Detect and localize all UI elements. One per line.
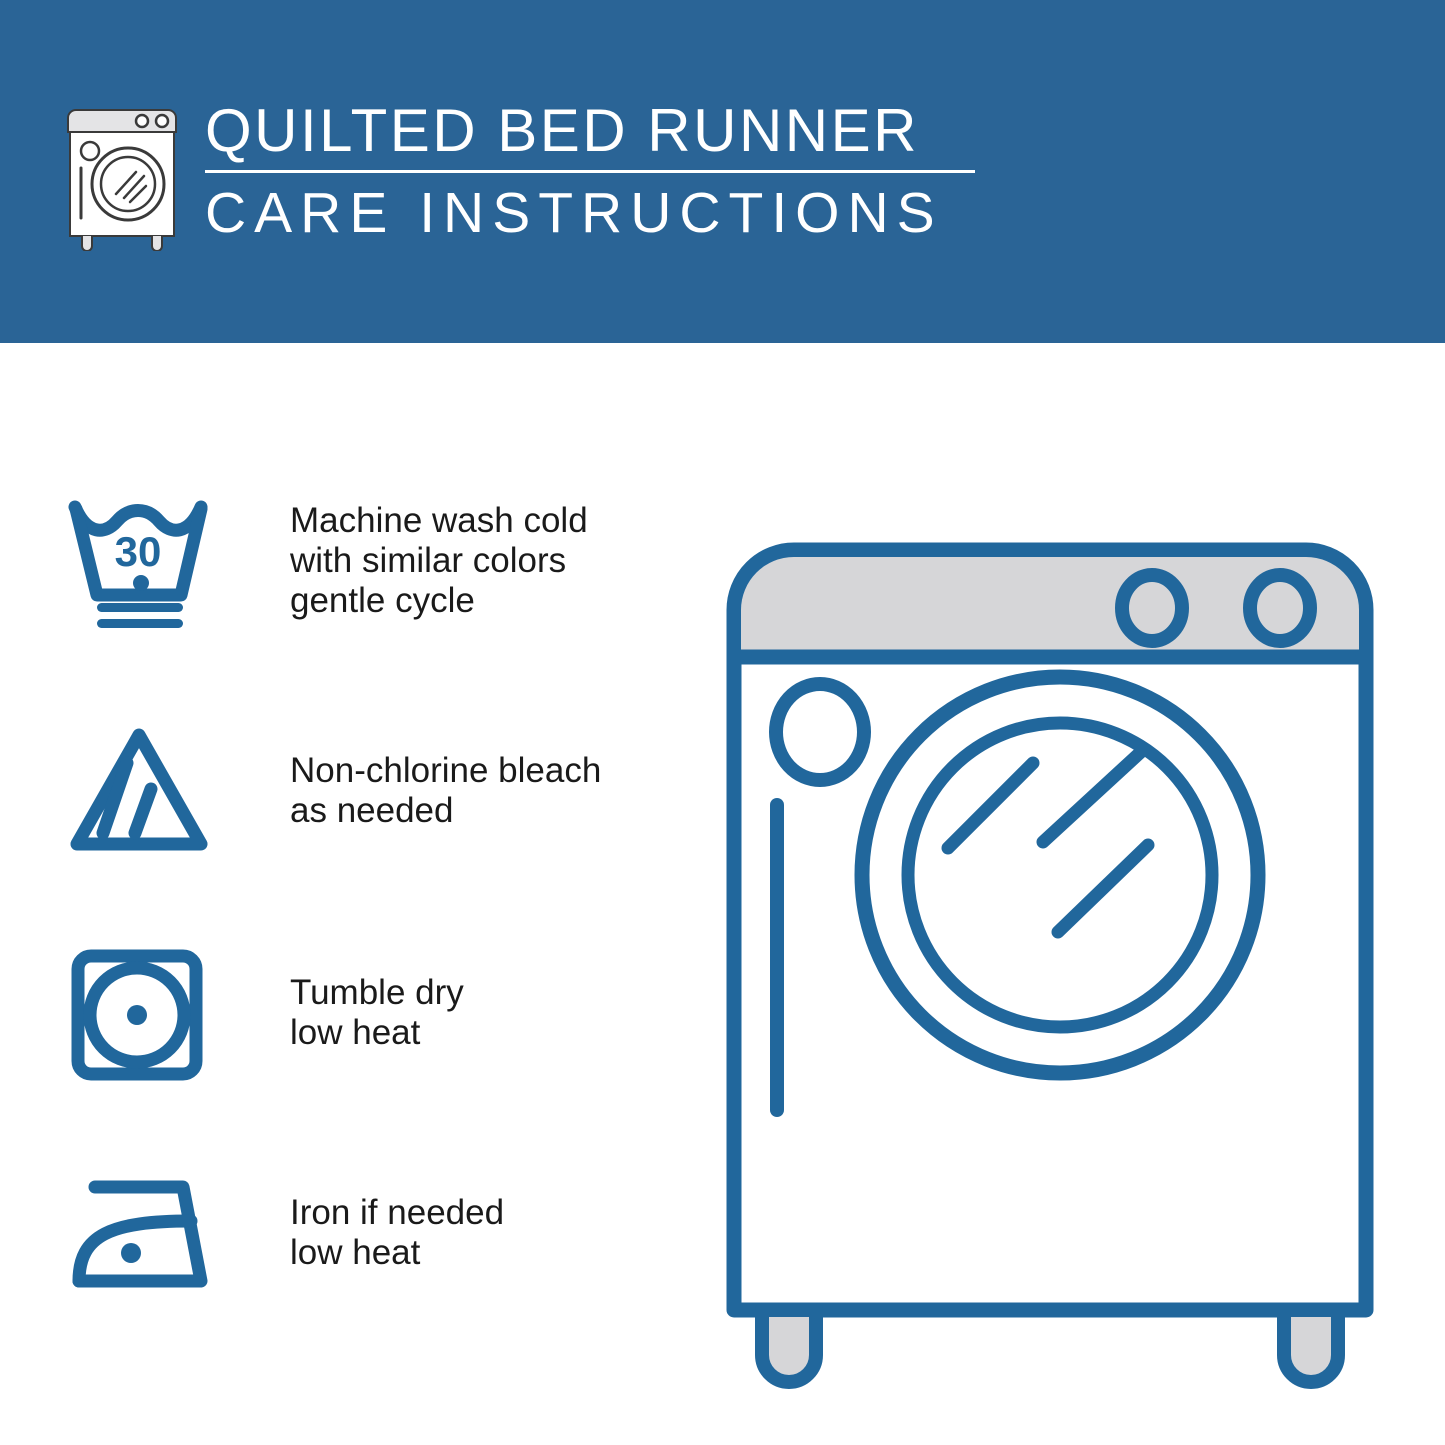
washing-machine-illustration <box>700 460 1400 1390</box>
title-divider <box>205 170 975 173</box>
care-row-iron: Iron if needed low heat <box>60 1163 620 1303</box>
care-row-machine-wash: 30 Machine wash cold with similar colors… <box>60 491 620 631</box>
care-row-bleach: Non-chlorine bleach as needed <box>60 721 620 861</box>
leg-left <box>762 1310 816 1382</box>
bleach-triangle-icon <box>65 721 215 861</box>
iron-heat-dot <box>121 1243 141 1263</box>
header-banner: QUILTED BED RUNNER CARE INSTRUCTIONS <box>0 0 1445 343</box>
tumble-dry-icon <box>65 943 215 1083</box>
care-label-iron: Iron if needed low heat <box>290 1193 504 1273</box>
care-row-tumble-dry: Tumble dry low heat <box>60 943 620 1083</box>
leg-right <box>1284 1310 1338 1382</box>
gentle-bar-1 <box>97 603 183 612</box>
wash-temperature-label: 30 <box>115 528 162 575</box>
tumble-dry-dot <box>127 1005 147 1025</box>
care-instructions-page: QUILTED BED RUNNER CARE INSTRUCTIONS 30 <box>0 0 1445 1445</box>
wash-dot <box>133 575 149 591</box>
door-button[interactable] <box>776 684 864 780</box>
gentle-bar-2 <box>97 619 183 628</box>
bleach-triangle-icon-wrap <box>60 721 220 861</box>
page-title: QUILTED BED RUNNER <box>205 95 995 167</box>
wash-tub-icon-wrap: 30 <box>60 491 220 631</box>
care-label-tumble-dry: Tumble dry low heat <box>290 973 464 1053</box>
care-label-machine-wash: Machine wash cold with similar colors ge… <box>290 501 588 621</box>
knob-right[interactable] <box>1250 575 1310 641</box>
header-text-block: QUILTED BED RUNNER CARE INSTRUCTIONS <box>205 95 995 248</box>
tumble-dry-icon-wrap <box>60 943 220 1083</box>
iron-icon <box>65 1163 215 1303</box>
knob-left[interactable] <box>1122 575 1182 641</box>
care-label-bleach: Non-chlorine bleach as needed <box>290 751 601 831</box>
wash-tub-icon: 30 <box>65 491 215 631</box>
iron-icon-wrap <box>60 1163 220 1303</box>
page-subtitle: CARE INSTRUCTIONS <box>205 178 995 248</box>
washing-machine-icon <box>66 106 178 251</box>
care-instructions-list: 30 Machine wash cold with similar colors… <box>0 343 660 1445</box>
